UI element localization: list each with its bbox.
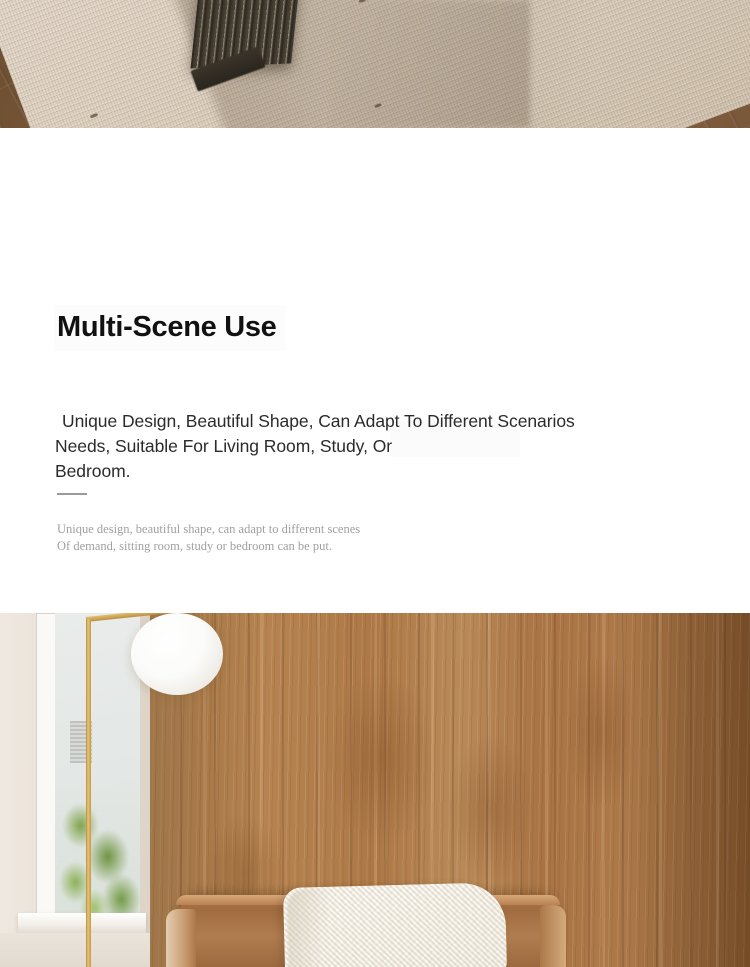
wall-shadow-right [600,613,750,967]
section-divider [57,493,87,495]
window-greenery [55,783,140,925]
body-line-2: Needs, Suitable For Living Room, Study, … [55,434,615,459]
secondary-caption: Unique design, beautiful shape, can adap… [57,521,477,555]
copy-section: Multi-Scene Use Unique Design, Beautiful… [0,128,750,613]
top-image-rug-floor [0,0,750,128]
page-title: Multi-Scene Use [57,311,277,344]
body-line-3: Bedroom. [55,459,615,484]
floor-lamp-globe-shade [131,613,223,695]
bottom-image-living-room [0,613,750,967]
product-detail-page: Multi-Scene Use Unique Design, Beautiful… [0,0,750,967]
window-sill [18,913,146,935]
body-description: Unique Design, Beautiful Shape, Can Adap… [55,409,615,484]
knit-throw-pillow-fold [287,888,341,967]
body-line-1: Unique Design, Beautiful Shape, Can Adap… [55,409,615,434]
caption-line-1: Unique design, beautiful shape, can adap… [57,521,477,538]
leather-chair-arm-left [166,909,196,967]
leather-chair-arm-right [540,905,566,967]
caption-line-2: Of demand, sitting room, study or bedroo… [57,538,477,555]
floor-lamp-pole [86,619,91,967]
wall-below-sill [0,933,150,967]
